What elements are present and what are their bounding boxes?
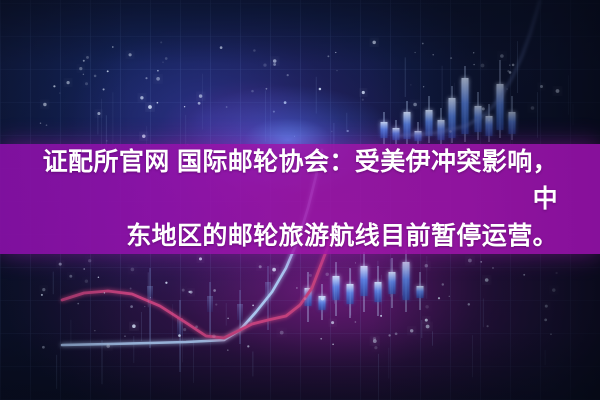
headline-line-2: 东地区的邮轮旅游航线目前暂停运营。 [126,222,558,250]
headline-band: 证配所官网 国际邮轮协会：受美伊冲突影响，中 东地区的邮轮旅游航线目前暂停运营。 [0,144,600,254]
upper-faint-curve [398,0,540,136]
headline-text: 证配所官网 国际邮轮协会：受美伊冲突影响，中 东地区的邮轮旅游航线目前暂停运营。 [20,144,580,255]
banner-image: 证配所官网 国际邮轮协会：受美伊冲突影响，中 东地区的邮轮旅游航线目前暂停运营。 [0,0,600,400]
headline-line-1: 证配所官网 国际邮轮协会：受美伊冲突影响，中 [43,148,558,213]
